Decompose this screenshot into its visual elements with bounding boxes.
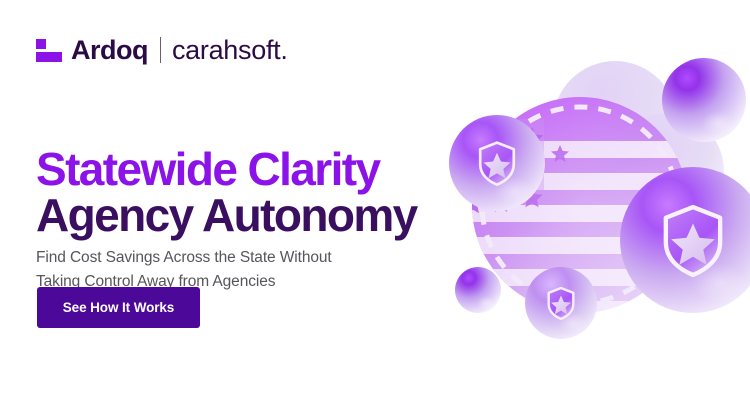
hero-illustration xyxy=(440,45,750,390)
headline-line-1: Statewide Clarity xyxy=(36,147,417,192)
ardoq-logo-mark-icon xyxy=(36,37,62,63)
subheading-line-1: Find Cost Savings Across the State Witho… xyxy=(36,246,332,270)
headline-line-2: Agency Autonomy xyxy=(36,193,417,238)
ardoq-wordmark: Ardoq xyxy=(71,37,148,64)
see-how-it-works-button[interactable]: See How It Works xyxy=(37,287,200,328)
logo-mark-square xyxy=(36,39,46,49)
marketing-banner: Ardoq carahsoft. Statewide Clarity Agenc… xyxy=(0,0,750,400)
sphere-shield-bottom xyxy=(525,267,597,339)
carahsoft-wordmark: carahsoft. xyxy=(172,37,288,64)
sphere-plain-bottom-left xyxy=(455,267,501,313)
shield-star-badge-bottom xyxy=(549,288,574,319)
page-title: Statewide Clarity Agency Autonomy xyxy=(36,147,417,237)
logo-lockup[interactable]: Ardoq carahsoft. xyxy=(36,33,288,67)
sphere-shield-left xyxy=(449,115,545,211)
shield-star-badge-right xyxy=(666,207,720,275)
logo-divider xyxy=(160,37,161,63)
shield-star-badge-left xyxy=(480,143,514,185)
sphere-plain-top-right xyxy=(662,58,746,142)
logo-mark-bar xyxy=(36,52,62,62)
